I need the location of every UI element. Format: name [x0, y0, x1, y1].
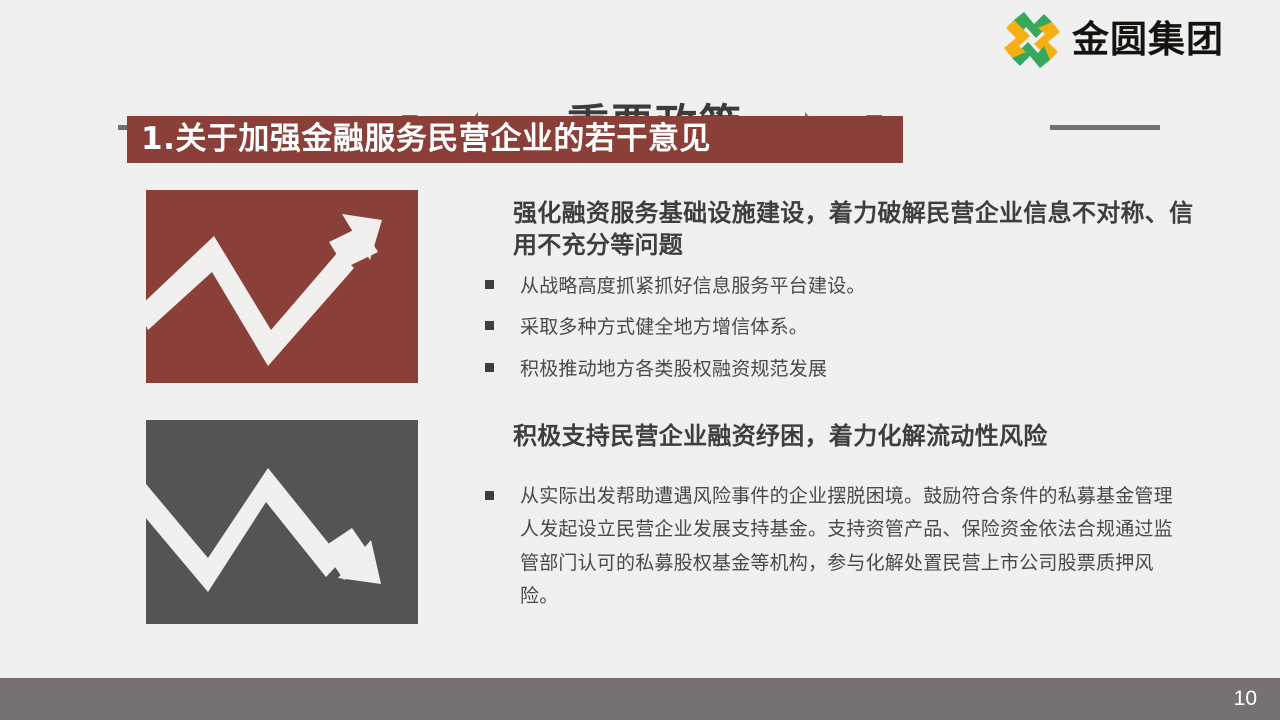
trending-down-arrow-icon: [146, 420, 418, 624]
list-item: 从实际出发帮助遭遇风险事件的企业摆脱困境。鼓励符合条件的私募基金管理人发起设立民…: [485, 480, 1175, 613]
bullet-square-icon: [485, 363, 494, 372]
list-item: 从战略高度抓紧抓好信息服务平台建设。: [485, 271, 1045, 301]
slide-canvas: 金圆集团 重要政策 1.关于加强金融服务民营企业的若干意见 强化融资服务基础设施…: [0, 0, 1280, 720]
bullet-list-1: 从战略高度抓紧抓好信息服务平台建设。 采取多种方式健全地方增信体系。 积极推动地…: [485, 271, 1045, 395]
bullet-square-icon: [485, 321, 494, 330]
list-item: 采取多种方式健全地方增信体系。: [485, 312, 1045, 342]
block-heading-1: 强化融资服务基础设施建设，着力破解民营企业信息不对称、信用不充分等问题: [513, 198, 1213, 261]
footer-bar: [0, 678, 1280, 720]
block-heading-2: 积极支持民营企业融资纾困，着力化解流动性风险: [513, 421, 1213, 453]
bullet-label: 积极推动地方各类股权融资规范发展: [520, 354, 827, 384]
title-rule-right: [1050, 125, 1160, 130]
bullet-label: 从战略高度抓紧抓好信息服务平台建设。: [520, 271, 866, 301]
slide-title-row: 重要政策: [0, 50, 1280, 108]
bullet-label: 采取多种方式健全地方增信体系。: [520, 312, 808, 342]
trending-up-arrow-icon: [146, 190, 418, 383]
bullet-square-icon: [485, 280, 494, 289]
section-banner-label: 1.关于加强金融服务民营企业的若干意见: [141, 124, 711, 155]
page-number: 10: [1234, 688, 1257, 709]
bullet-label: 从实际出发帮助遭遇风险事件的企业摆脱困境。鼓励符合条件的私募基金管理人发起设立民…: [520, 480, 1175, 613]
section-banner: 1.关于加强金融服务民营企业的若干意见: [127, 116, 903, 163]
bullet-list-2: 从实际出发帮助遭遇风险事件的企业摆脱困境。鼓励符合条件的私募基金管理人发起设立民…: [485, 480, 1175, 624]
bullet-square-icon: [485, 491, 494, 500]
list-item: 积极推动地方各类股权融资规范发展: [485, 354, 1045, 384]
